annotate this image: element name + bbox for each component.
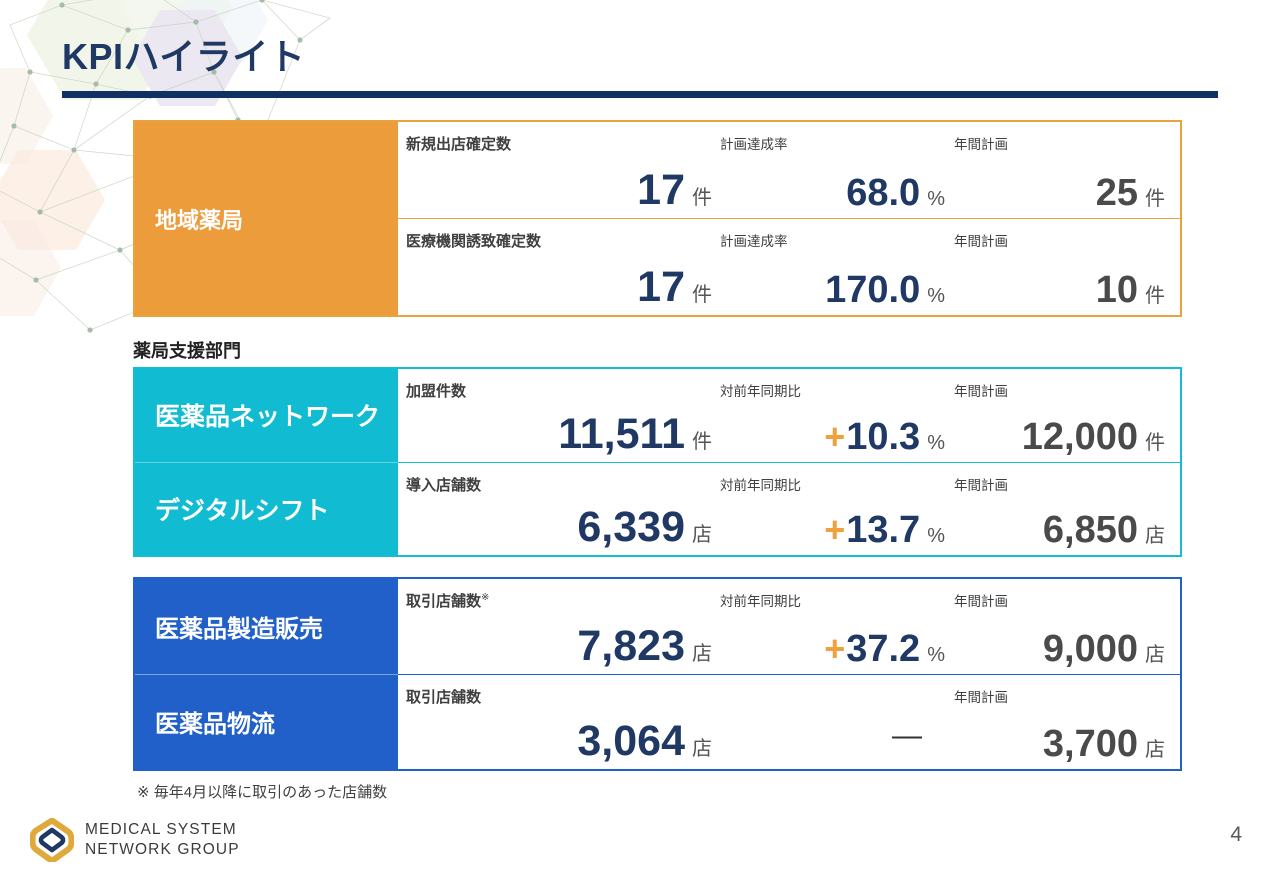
title-underline	[62, 91, 1218, 98]
section-subheading: 薬局支援部門	[133, 337, 241, 363]
ratio-value-group: 170.0 %	[824, 271, 945, 309]
kpi-row: 取引店舗数 3,064 店 — 年間計画 3,700 店	[398, 674, 1180, 770]
ratio-value: 37.2	[846, 630, 920, 668]
ratio-unit: %	[927, 644, 945, 667]
category-label-network: 医薬品ネットワーク	[135, 369, 398, 462]
kpi-row: 加盟件数 11,511 件 対前年同期比 + 10.3 % 年間計画 12,00…	[398, 369, 1180, 462]
plan-value: 25	[1096, 174, 1138, 212]
metric-label: 医療機関誘致確定数	[406, 230, 541, 251]
ratio-value-group: + 10.3 %	[824, 418, 945, 456]
ratio-label: 対前年同期比	[720, 590, 801, 610]
ratio-value: —	[892, 721, 922, 751]
logo-wordmark: MEDICAL SYSTEM NETWORK GROUP	[85, 820, 240, 861]
plan-unit: 件	[1145, 426, 1165, 455]
plan-label: 年間計画	[954, 590, 1008, 610]
metric-value: 7,823	[577, 625, 685, 668]
category-label-region: 地域薬局	[135, 122, 398, 315]
ratio-value: 13.7	[846, 511, 920, 549]
metric-label: 取引店舗数	[406, 593, 481, 610]
footnote-marker-icon: ※	[481, 592, 489, 603]
metric-unit: 件	[692, 181, 712, 210]
plan-value: 12,000	[1022, 418, 1138, 456]
logo-line-2: NETWORK GROUP	[85, 840, 240, 860]
metric-value-group: 17 件	[637, 169, 712, 212]
page-title: KPIハイライト	[62, 28, 305, 80]
plan-value-group: 9,000 店	[1043, 630, 1165, 668]
plan-value-group: 25 件	[1096, 174, 1165, 212]
page-number: 4	[1230, 823, 1242, 847]
kpi-row: 新規出店確定数 17 件 計画達成率 68.0 % 年間計画 25 件	[398, 122, 1180, 218]
metric-value: 3,064	[577, 720, 685, 763]
diamond-logo-icon	[30, 818, 74, 862]
category-label-manufacture: 医薬品製造販売	[135, 579, 398, 674]
kpi-block-support: 医薬品ネットワーク デジタルシフト 加盟件数 11,511 件 対前年同期比 +…	[133, 367, 1182, 557]
metric-label: 取引店舗数	[406, 686, 481, 707]
metric-value: 6,339	[577, 506, 685, 549]
ratio-unit: %	[927, 432, 945, 455]
metric-label: 導入店舗数	[406, 474, 481, 495]
metric-value-group: 17 件	[637, 266, 712, 309]
metric-label: 新規出店確定数	[406, 133, 511, 154]
kpi-row: 取引店舗数※ 7,823 店 対前年同期比 + 37.2 % 年間計画 9,00…	[398, 579, 1180, 674]
company-logo: MEDICAL SYSTEM NETWORK GROUP	[30, 818, 240, 862]
ratio-value-group: + 13.7 %	[824, 511, 945, 549]
plan-label: 年間計画	[954, 380, 1008, 400]
metric-value-group: 7,823 店	[577, 625, 712, 668]
plan-label: 年間計画	[954, 230, 1008, 250]
ratio-value-group: + 37.2 %	[824, 630, 945, 668]
ratio-unit: %	[927, 525, 945, 548]
kpi-rows-support: 加盟件数 11,511 件 対前年同期比 + 10.3 % 年間計画 12,00…	[398, 369, 1180, 555]
ratio-value: 170.0	[825, 271, 920, 309]
plan-value: 9,000	[1043, 630, 1138, 668]
ratio-sign: +	[824, 512, 845, 548]
plan-value-group: 10 件	[1096, 271, 1165, 309]
ratio-value-group: —	[892, 721, 922, 751]
category-label-logistics: 医薬品物流	[135, 674, 398, 770]
kpi-block-region: 地域薬局 新規出店確定数 17 件 計画達成率 68.0 % 年間計画 25 件…	[133, 120, 1182, 317]
kpi-block-pharma: 医薬品製造販売 医薬品物流 取引店舗数※ 7,823 店 対前年同期比 + 37…	[133, 577, 1182, 771]
metric-value-group: 11,511 件	[558, 413, 712, 456]
metric-unit: 店	[692, 637, 712, 666]
ratio-sign: +	[824, 419, 845, 455]
plan-unit: 件	[1145, 279, 1165, 308]
ratio-sign: +	[824, 631, 845, 667]
plan-value-group: 6,850 店	[1043, 511, 1165, 549]
logo-line-1: MEDICAL SYSTEM	[85, 820, 240, 840]
ratio-unit: %	[927, 188, 945, 211]
metric-value: 17	[637, 266, 685, 309]
metric-value-group: 3,064 店	[577, 720, 712, 763]
metric-value: 17	[637, 169, 685, 212]
ratio-label: 計画達成率	[720, 133, 788, 153]
plan-value: 3,700	[1043, 725, 1138, 763]
metric-unit: 店	[692, 732, 712, 761]
footnote-text: ※ 毎年4月以降に取引のあった店舗数	[137, 781, 387, 802]
ratio-unit: %	[927, 285, 945, 308]
kpi-row: 医療機関誘致確定数 17 件 計画達成率 170.0 % 年間計画 10 件	[398, 218, 1180, 315]
plan-label: 年間計画	[954, 474, 1008, 494]
category-column-pharma: 医薬品製造販売 医薬品物流	[135, 579, 398, 769]
ratio-value-group: 68.0 %	[845, 174, 945, 212]
plan-value-group: 3,700 店	[1043, 725, 1165, 763]
metric-unit: 店	[692, 518, 712, 547]
plan-label: 年間計画	[954, 686, 1008, 706]
ratio-label: 計画達成率	[720, 230, 788, 250]
kpi-rows-pharma: 取引店舗数※ 7,823 店 対前年同期比 + 37.2 % 年間計画 9,00…	[398, 579, 1180, 769]
metric-unit: 件	[692, 278, 712, 307]
category-label-digital: デジタルシフト	[135, 462, 398, 556]
metric-label-wrap: 取引店舗数※	[406, 590, 489, 611]
category-column-support: 医薬品ネットワーク デジタルシフト	[135, 369, 398, 555]
plan-unit: 店	[1145, 733, 1165, 762]
metric-unit: 件	[692, 425, 712, 454]
plan-label: 年間計画	[954, 133, 1008, 153]
plan-unit: 店	[1145, 638, 1165, 667]
ratio-value: 68.0	[846, 174, 920, 212]
metric-label: 加盟件数	[406, 380, 466, 401]
metric-value: 11,511	[558, 413, 685, 456]
plan-value: 6,850	[1043, 511, 1138, 549]
ratio-label: 対前年同期比	[720, 380, 801, 400]
ratio-value: 10.3	[846, 418, 920, 456]
ratio-label: 対前年同期比	[720, 474, 801, 494]
plan-unit: 店	[1145, 519, 1165, 548]
kpi-row: 導入店舗数 6,339 店 対前年同期比 + 13.7 % 年間計画 6,850…	[398, 462, 1180, 556]
kpi-rows-region: 新規出店確定数 17 件 計画達成率 68.0 % 年間計画 25 件 医療機関…	[398, 122, 1180, 315]
plan-value-group: 12,000 件	[1022, 418, 1165, 456]
plan-unit: 件	[1145, 182, 1165, 211]
metric-value-group: 6,339 店	[577, 506, 712, 549]
plan-value: 10	[1096, 271, 1138, 309]
